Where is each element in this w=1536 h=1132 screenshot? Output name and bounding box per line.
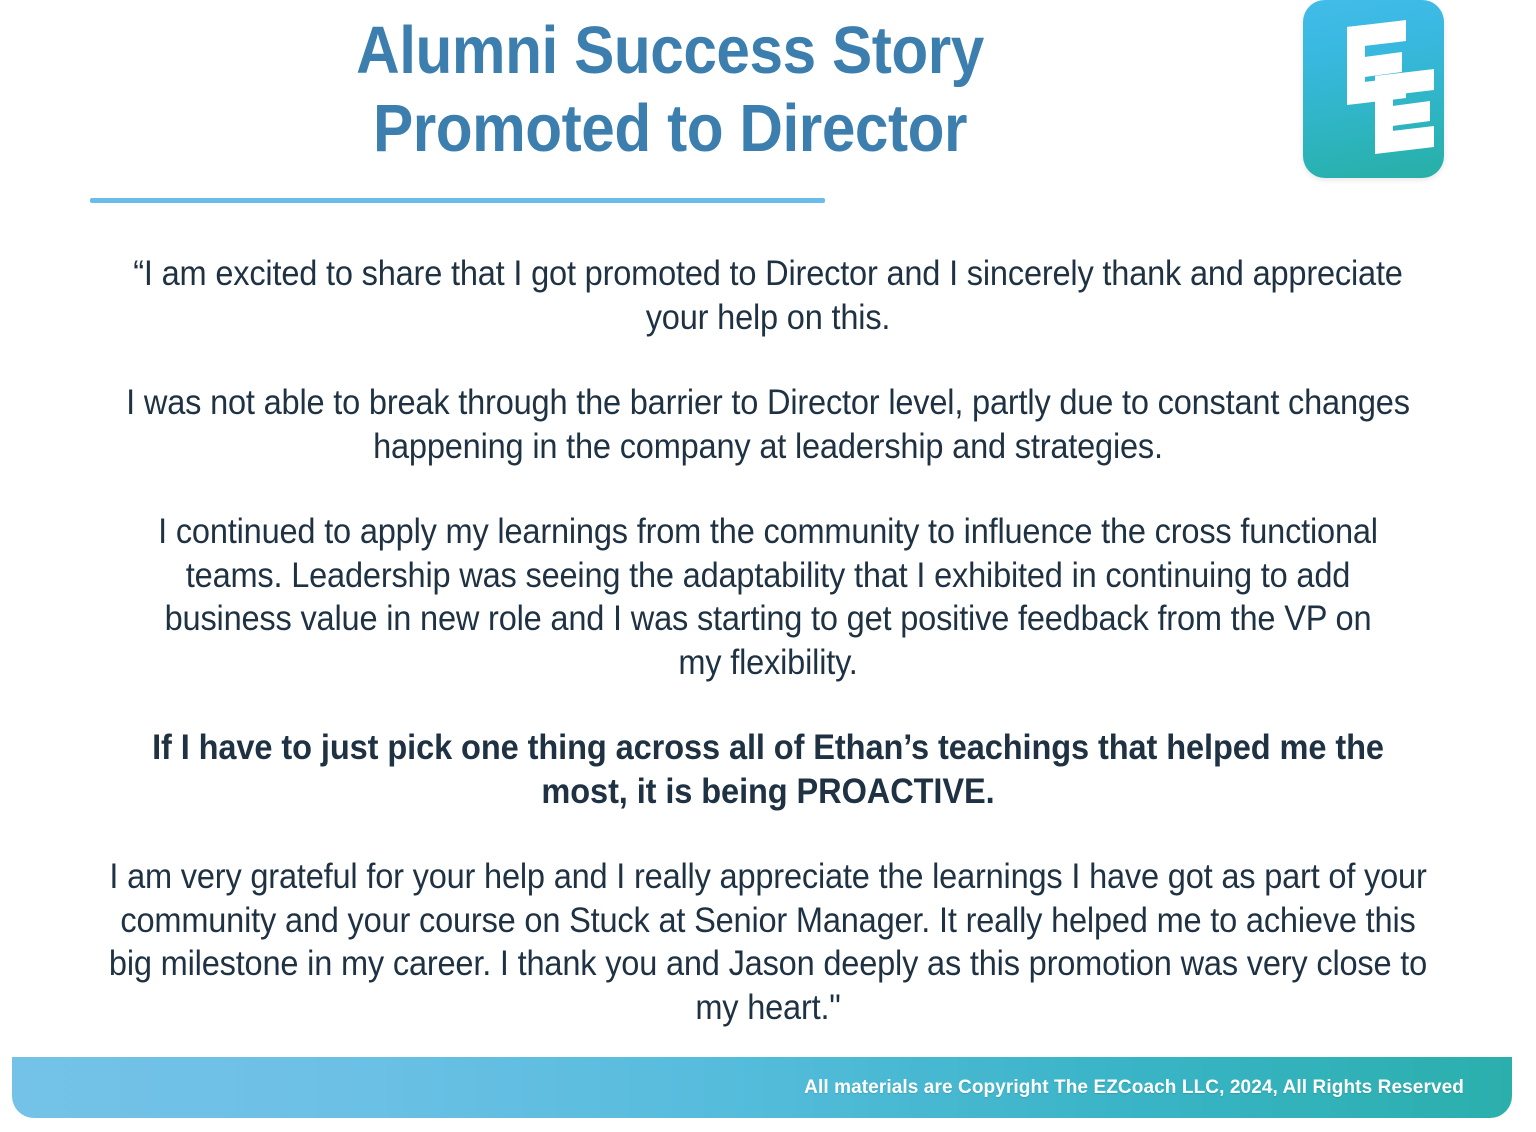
- testimonial-paragraph-5: I am very grateful for your help and I r…: [98, 855, 1437, 1029]
- footer-bar: All materials are Copyright The EZCoach …: [12, 1057, 1512, 1118]
- page-title-line-2: Promoted to Director: [139, 90, 1201, 168]
- testimonial-paragraph-2: I was not able to break through the barr…: [108, 381, 1429, 468]
- testimonial-key-takeaway: If I have to just pick one thing across …: [126, 726, 1409, 813]
- testimonial-paragraph-3: I continued to apply my learnings from t…: [145, 510, 1391, 684]
- page-title: Alumni Success Story Promoted to Directo…: [80, 12, 1260, 168]
- ezcoach-double-e-logo-icon: [1303, 0, 1444, 178]
- page-title-line-1: Alumni Success Story: [139, 12, 1201, 90]
- copyright-notice: All materials are Copyright The EZCoach …: [804, 1077, 1464, 1099]
- title-divider-rule: [90, 198, 825, 203]
- testimonial-paragraph-1: “I am excited to share that I got promot…: [126, 252, 1409, 339]
- brand-logo: [1303, 0, 1444, 178]
- slide-header: Alumni Success Story Promoted to Directo…: [0, 0, 1536, 190]
- testimonial-body: “I am excited to share that I got promot…: [48, 252, 1488, 1029]
- slide-root: Alumni Success Story Promoted to Directo…: [0, 0, 1536, 1132]
